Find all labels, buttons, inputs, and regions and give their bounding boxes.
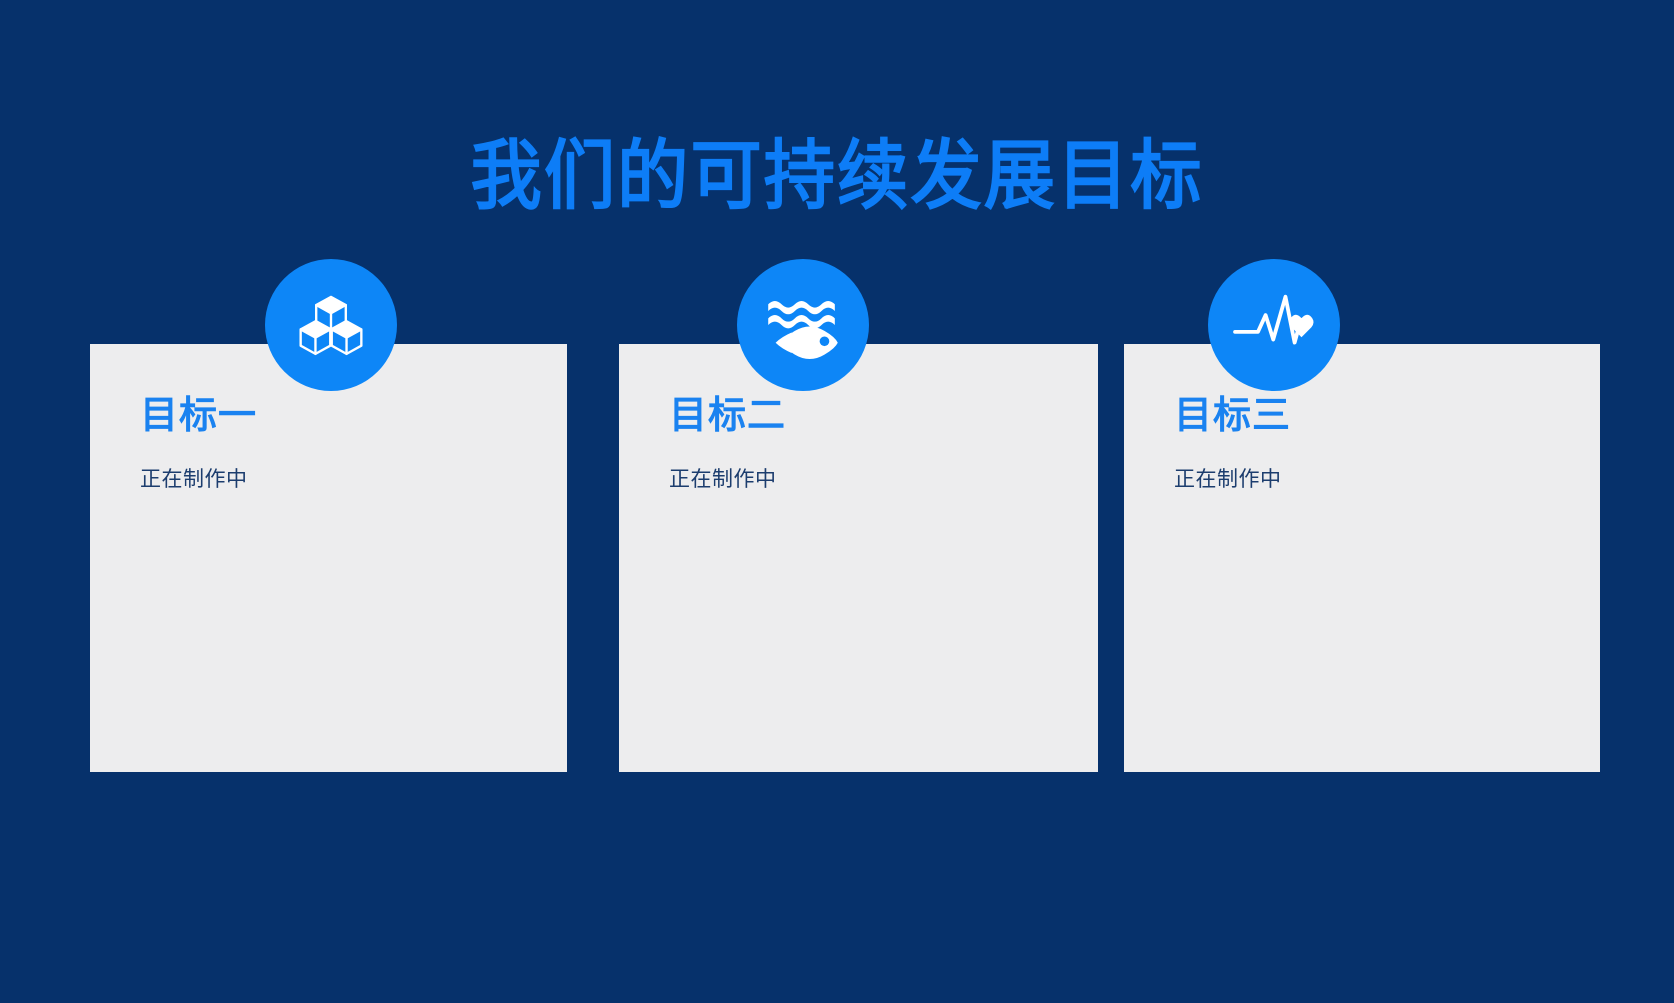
goal-icon-badge xyxy=(1208,259,1340,391)
goal-card-heading: 目标二 xyxy=(669,392,786,438)
goal-card-heading: 目标一 xyxy=(140,392,257,438)
goal-card-heading: 目标三 xyxy=(1174,392,1291,438)
goal-card-body: 正在制作中 xyxy=(669,464,777,494)
presentation-slide: 我们的可持续发展目标 目标一 正在制作中 目标二 正在制作中 目标三 正在制作中 xyxy=(0,0,1674,1003)
goal-card-body: 正在制作中 xyxy=(140,464,248,494)
goal-card[interactable]: 目标三 正在制作中 xyxy=(1124,344,1600,772)
goal-card-body: 正在制作中 xyxy=(1174,464,1282,494)
fish-waves-icon xyxy=(762,288,844,362)
heartbeat-pulse-icon xyxy=(1232,292,1316,358)
goal-icon-badge xyxy=(265,259,397,391)
goal-card[interactable]: 目标一 正在制作中 xyxy=(90,344,567,772)
cubes-icon xyxy=(294,288,368,362)
goal-card-row: 目标一 正在制作中 目标二 正在制作中 目标三 正在制作中 xyxy=(0,0,1674,1003)
goal-card[interactable]: 目标二 正在制作中 xyxy=(619,344,1098,772)
goal-icon-badge xyxy=(737,259,869,391)
